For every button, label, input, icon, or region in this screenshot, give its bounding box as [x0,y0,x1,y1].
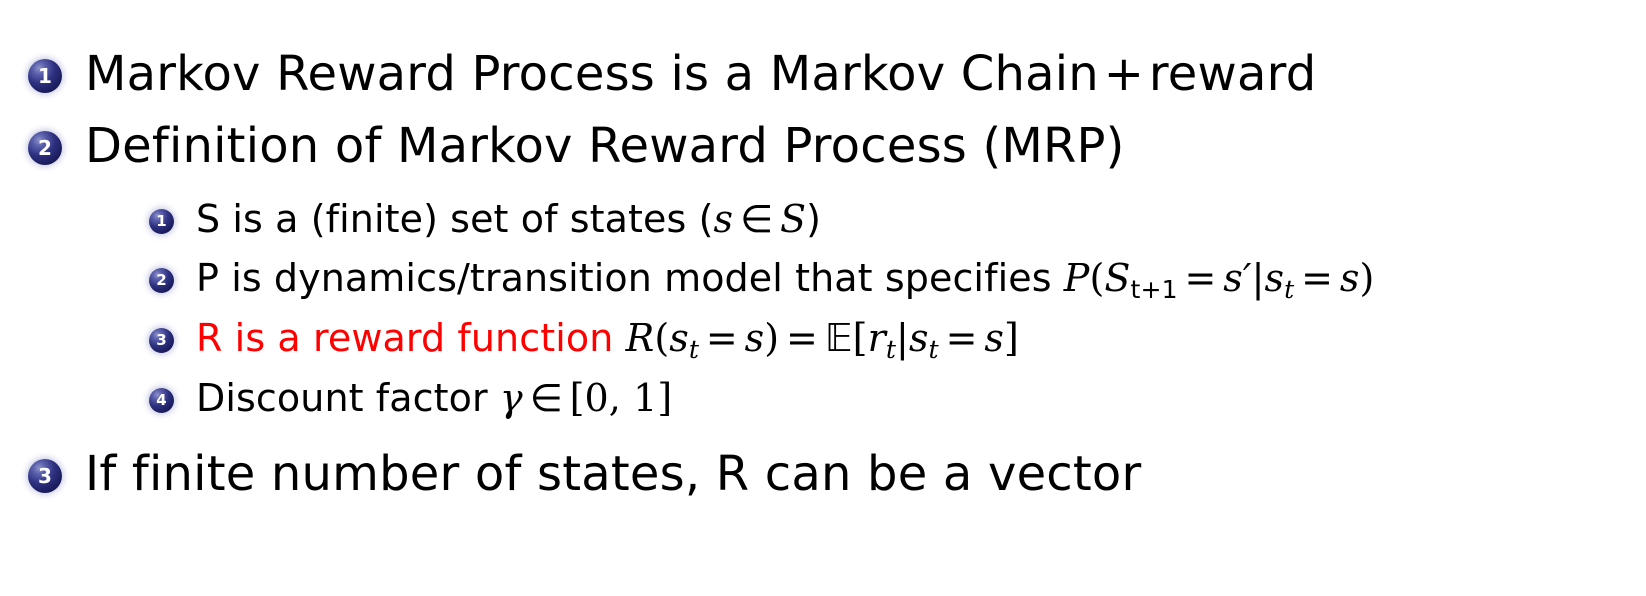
enumerate-ball-icon: 1 [28,59,62,93]
sub-4-lead: Discount factor [196,376,488,420]
equals-operator: = [939,316,985,360]
sub-3-close-paren: ) [764,316,779,360]
slide-canvas: 1 Markov Reward Process is a Markov Chai… [0,0,1646,596]
equals-operator: = [699,316,745,360]
sub-3-s: s [745,316,765,360]
sub-2-s-prime: s [1223,256,1243,300]
sub-2-open-paren: ( [1089,256,1104,300]
sub-3-r: r [868,316,886,360]
list-item[interactable]: 2 P is dynamics/transition model that sp… [149,259,1374,302]
sub-3-close-bracket: ] [1004,316,1019,360]
list-item[interactable]: 4 Discount factor γ∈[0, 1] [149,379,672,417]
sub-3-subscript-t: t [689,335,699,364]
sub-2-P: P [1064,256,1090,300]
list-item[interactable]: 2 Definition of Markov Reward Process (M… [28,122,1125,170]
list-item[interactable]: 1 Markov Reward Process is a Markov Chai… [28,50,1316,98]
interval-range: [0, 1] [570,376,673,420]
enumerate-ball-icon: 4 [149,388,174,413]
list-item-text: Discount factor γ∈[0, 1] [196,379,672,417]
sub-2-s: s [1340,256,1360,300]
sub-1-var-S: S [780,197,806,241]
gamma-symbol: γ [500,376,523,420]
list-item-text: P is dynamics/transition model that spec… [196,259,1374,302]
sub-2-s-t: s [1265,256,1285,300]
list-item-text: If finite number of states, R can be a v… [85,450,1141,498]
sub-2-subscript-t-plus-1: t+1 [1131,275,1178,304]
sub-2-S: S [1104,256,1130,300]
list-item-text: R is a reward function R(st=s)=𝔼[rt|st=s… [196,319,1019,362]
given-bar: | [1252,256,1265,300]
equals-operator: = [1294,256,1340,300]
list-item[interactable]: 3 R is a reward function R(st=s)=𝔼[rt|st… [149,319,1019,362]
list-item-text: S is a (finite) set of states (s∈S) [196,200,821,238]
given-bar: | [896,316,909,360]
expectation-symbol: 𝔼 [825,316,853,360]
sub-3-open-paren: ( [654,316,669,360]
enumerate-ball-icon: 2 [28,131,62,165]
list-item-text: Markov Reward Process is a Markov Chain+… [85,50,1316,98]
equals-operator: = [779,316,825,360]
plus-operator: + [1099,46,1149,102]
sub-2-subscript-t: t [1284,275,1294,304]
sub-2-lead: P is dynamics/transition model that spec… [196,256,1052,300]
sub-3-open-bracket: [ [853,316,868,360]
element-of-operator: ∈ [733,197,780,241]
sub-3-s-t: s [669,316,689,360]
equals-operator: = [1178,256,1224,300]
enumerate-ball-icon: 3 [149,328,174,353]
sub-1-var-s: s [714,197,734,241]
list-item[interactable]: 3 If finite number of states, R can be a… [28,450,1141,498]
sub-3-R: R [626,316,655,360]
enumerate-ball-icon: 3 [28,459,62,493]
list-item-text: Definition of Markov Reward Process (MRP… [85,122,1125,170]
enumerate-ball-icon: 2 [149,268,174,293]
list-item[interactable]: 1 S is a (finite) set of states (s∈S) [149,200,821,238]
sub-3-s-2: s [984,316,1004,360]
highlighted-text: R is a reward function [196,316,613,360]
sub-1-tail: ) [806,197,821,241]
element-of-operator: ∈ [523,376,570,420]
item-1-text-b: reward [1149,46,1316,102]
sub-3-subscript-t-2: t [886,335,896,364]
sub-2-close-paren: ) [1360,256,1375,300]
item-1-text-a: Markov Reward Process is a Markov Chain [85,46,1099,102]
sub-3-subscript-t-3: t [929,335,939,364]
sub-1-lead: S is a (finite) set of states ( [196,197,714,241]
sub-3-s-t-2: s [909,316,929,360]
enumerate-ball-icon: 1 [149,209,174,234]
prime-symbol: ′ [1243,256,1252,300]
